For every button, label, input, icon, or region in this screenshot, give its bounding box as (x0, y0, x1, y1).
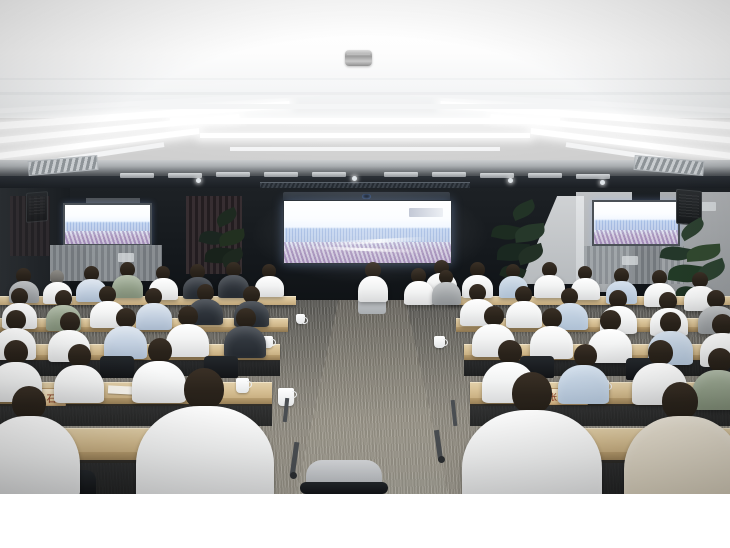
tea-cup-icon (434, 336, 445, 348)
ceiling-light-strip (200, 133, 530, 138)
wall-label (622, 256, 638, 265)
chair-caster (438, 456, 445, 463)
air-vent (576, 174, 610, 179)
wall-label (700, 202, 716, 211)
screen-foreground (65, 231, 150, 244)
chair-caster (290, 472, 297, 479)
conference-camera-icon (362, 194, 371, 199)
ceiling-light-strip (170, 118, 560, 124)
bottom-white-margin (0, 494, 730, 548)
speaker-icon (26, 191, 48, 223)
ceiling-rail (0, 92, 730, 95)
ceiling-light-strip (230, 147, 500, 151)
chair (100, 356, 134, 378)
screen-foreground (284, 242, 451, 263)
wall-base-panel (50, 245, 162, 281)
track-light-icon (196, 178, 201, 183)
track-light-icon (352, 176, 357, 181)
ceiling-light-strip (140, 104, 590, 109)
document-paper (108, 385, 134, 394)
screen-watermark (409, 208, 443, 217)
wall-label (118, 253, 134, 262)
air-vent (384, 172, 418, 177)
track-light-icon (600, 180, 605, 185)
conference-room-photo: 于子石 张建华 (0, 0, 730, 494)
smoke-detector-icon (345, 50, 372, 66)
air-vent (432, 172, 466, 177)
main-led-screen (283, 200, 452, 264)
chair-base (300, 482, 388, 494)
air-vent (216, 172, 250, 177)
tea-cup-icon (236, 378, 249, 393)
air-vent (120, 173, 154, 178)
air-vent (528, 173, 562, 178)
ceiling-rail (0, 78, 730, 80)
left-side-screen (63, 203, 152, 246)
air-vent (264, 172, 298, 177)
tea-cup-icon (296, 314, 305, 324)
track-light-icon (508, 178, 513, 183)
potted-plant-icon (196, 206, 250, 276)
air-vent (312, 172, 346, 177)
